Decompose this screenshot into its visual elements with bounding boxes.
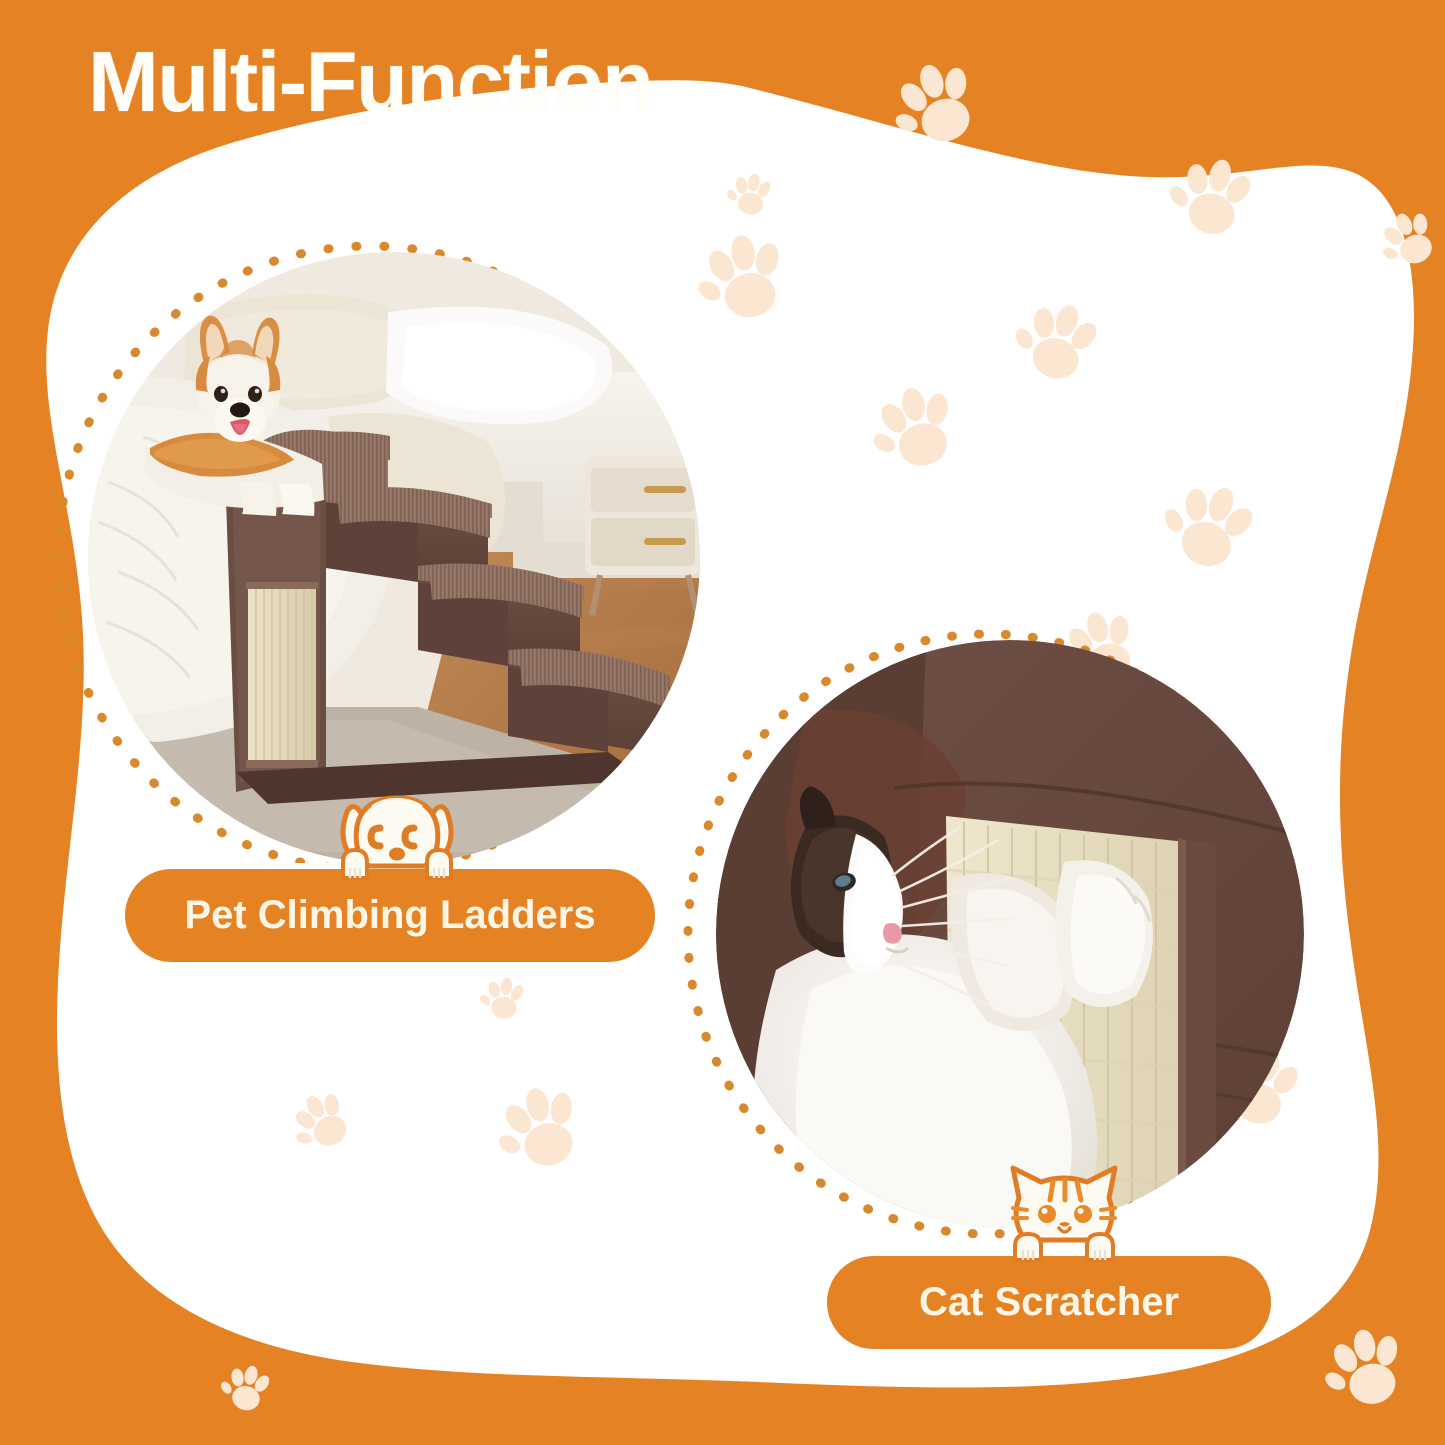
feature-label-text: Pet Climbing Ladders	[184, 893, 595, 938]
dog-face-icon	[333, 792, 461, 880]
pet-stairs-bedroom-photo	[88, 252, 700, 864]
cat-face-icon	[1003, 1158, 1125, 1262]
infographic-canvas: Multi-Function	[0, 0, 1445, 1445]
feature-label-text: Cat Scratcher	[919, 1280, 1179, 1325]
feature-photo-cat-scratcher[interactable]	[672, 618, 1304, 1250]
feature-photo-pet-climbing-ladders[interactable]	[40, 228, 700, 888]
feature-label-pet-climbing-ladders[interactable]: Pet Climbing Ladders	[125, 869, 655, 962]
page-title: Multi-Function	[88, 34, 652, 132]
feature-label-cat-scratcher[interactable]: Cat Scratcher	[827, 1256, 1271, 1349]
cat-scratching-photo	[716, 640, 1304, 1228]
